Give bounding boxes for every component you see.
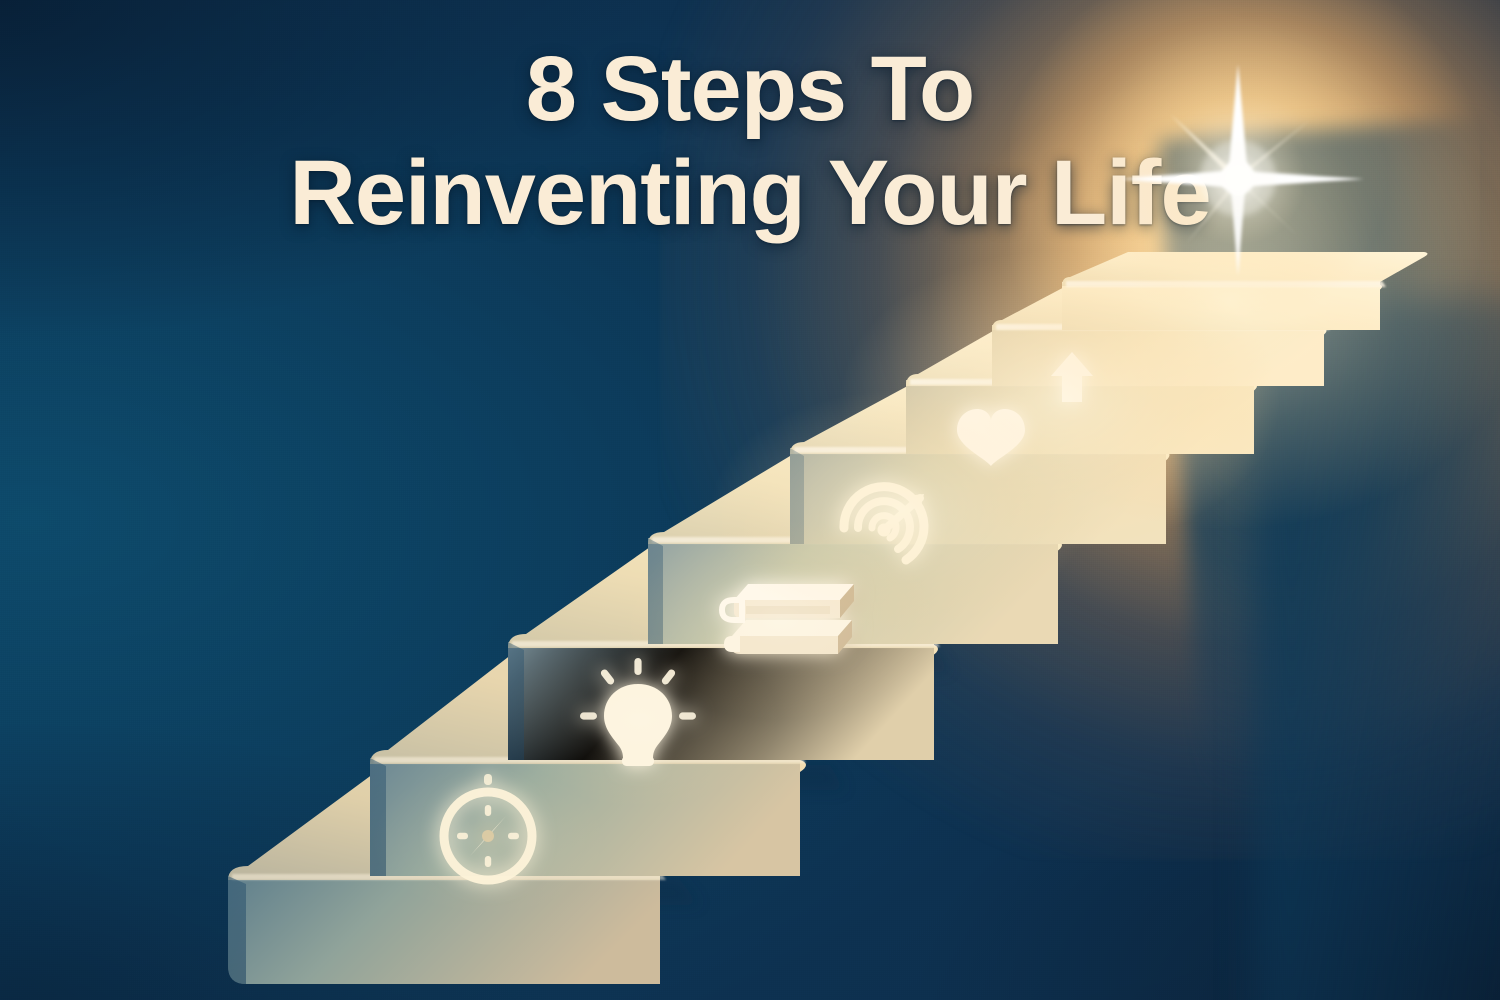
- poster-canvas: 8 Steps To Reinventing Your Life: [0, 0, 1500, 1000]
- staircase-illustration: [0, 0, 1500, 1000]
- step-8: [1062, 252, 1428, 330]
